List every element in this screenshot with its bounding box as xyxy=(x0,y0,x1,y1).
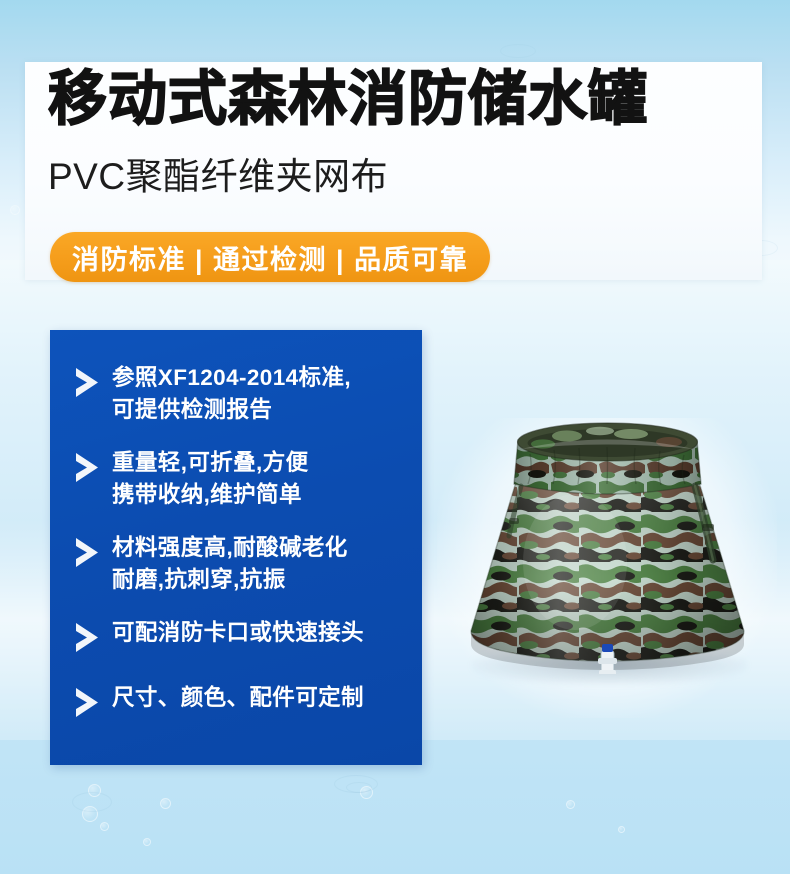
chevron-right-icon xyxy=(72,362,106,401)
chevron-right-icon xyxy=(72,682,106,721)
feature-panel: 参照XF1204-2014标准, 可提供检测报告 重量轻,可折叠,方便 携带收纳… xyxy=(50,330,422,765)
chevron-right-icon xyxy=(72,617,106,656)
ripple-decoration xyxy=(500,44,536,58)
camouflage-water-tank xyxy=(455,412,760,674)
bubble-decoration xyxy=(160,798,171,809)
bubble-decoration xyxy=(100,822,109,831)
feature-item: 材料强度高,耐酸碱老化 耐磨,抗刺穿,抗振 xyxy=(72,532,348,596)
ripple-decoration xyxy=(72,792,112,812)
product-banner: 移动式森林消防储水罐 PVC聚酯纤维夹网布 消防标准 | 通过检测 | 品质可靠… xyxy=(0,0,790,874)
feature-text: 重量轻,可折叠,方便 携带收纳,维护简单 xyxy=(112,447,309,511)
bubble-decoration xyxy=(143,838,151,846)
feature-item: 参照XF1204-2014标准, 可提供检测报告 xyxy=(72,362,351,426)
page-subtitle: PVC聚酯纤维夹网布 xyxy=(48,158,748,195)
feature-text: 参照XF1204-2014标准, 可提供检测报告 xyxy=(112,362,351,426)
chevron-right-icon xyxy=(72,447,106,486)
certification-badge: 消防标准 | 通过检测 | 品质可靠 xyxy=(50,232,490,282)
bubble-decoration xyxy=(618,826,625,833)
feature-item: 尺寸、颜色、配件可定制 xyxy=(72,682,364,721)
feature-item: 可配消防卡口或快速接头 xyxy=(72,617,364,656)
ripple-decoration xyxy=(346,782,372,793)
chevron-right-icon xyxy=(72,532,106,571)
feature-text: 材料强度高,耐酸碱老化 耐磨,抗刺穿,抗振 xyxy=(112,532,348,596)
feature-text: 可配消防卡口或快速接头 xyxy=(112,617,364,649)
certification-badge-label: 消防标准 | 通过检测 | 品质可靠 xyxy=(72,238,468,277)
feature-text: 尺寸、颜色、配件可定制 xyxy=(112,682,364,714)
feature-item: 重量轻,可折叠,方便 携带收纳,维护简单 xyxy=(72,447,309,511)
page-title: 移动式森林消防储水罐 xyxy=(48,70,768,129)
bubble-decoration xyxy=(566,800,575,809)
product-image xyxy=(417,400,790,730)
bubble-decoration xyxy=(10,205,20,215)
